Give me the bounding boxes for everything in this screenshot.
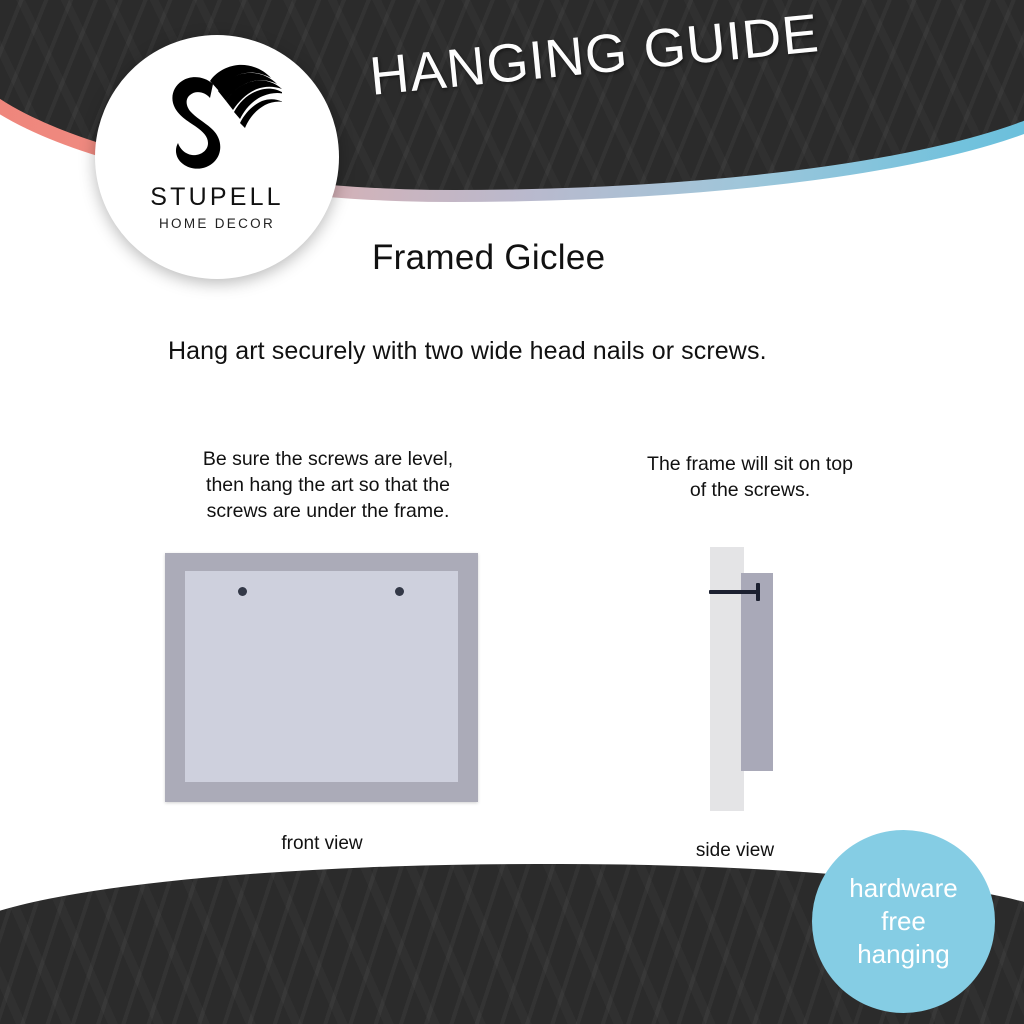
front-caption-line-2: then hang the art so that the [178,472,478,498]
brand-tagline: HOME DECOR [159,216,275,231]
side-view-caption: The frame will sit on top of the screws. [600,451,900,503]
side-caption-line-1: The frame will sit on top [600,451,900,477]
front-caption-line-3: screws are under the frame. [178,498,478,524]
hanging-guide-infographic: HANGING GUIDE STUPELL HOME DECOR Framed … [0,0,1024,1024]
intro-instruction: Hang art securely with two wide head nai… [168,337,767,366]
front-view-caption: Be sure the screws are level, then hang … [178,446,478,524]
front-view-label: front view [178,833,466,855]
product-type: Framed Giclee [372,238,605,278]
side-view-diagram [700,545,776,813]
frame-inner-mat [185,571,458,782]
nail-shaft-icon [709,590,759,594]
side-view-label: side view [620,840,850,862]
front-view-frame-diagram [165,553,478,802]
nail-head-icon [756,583,760,601]
side-caption-line-2: of the screws. [600,477,900,503]
screw-dot-left [238,587,247,596]
badge-line-3: hanging [857,938,950,971]
stupell-s-swoosh-icon [152,57,282,179]
wall-strip [710,547,744,811]
front-caption-line-1: Be sure the screws are level, [178,446,478,472]
brand-logo-badge: STUPELL HOME DECOR [95,35,339,279]
hardware-free-hanging-badge: hardware free hanging [812,830,995,1013]
screw-dot-right [395,587,404,596]
badge-line-2: free [881,905,926,938]
brand-name: STUPELL [150,183,284,212]
badge-line-1: hardware [849,872,957,905]
frame-side-strip [741,573,773,771]
